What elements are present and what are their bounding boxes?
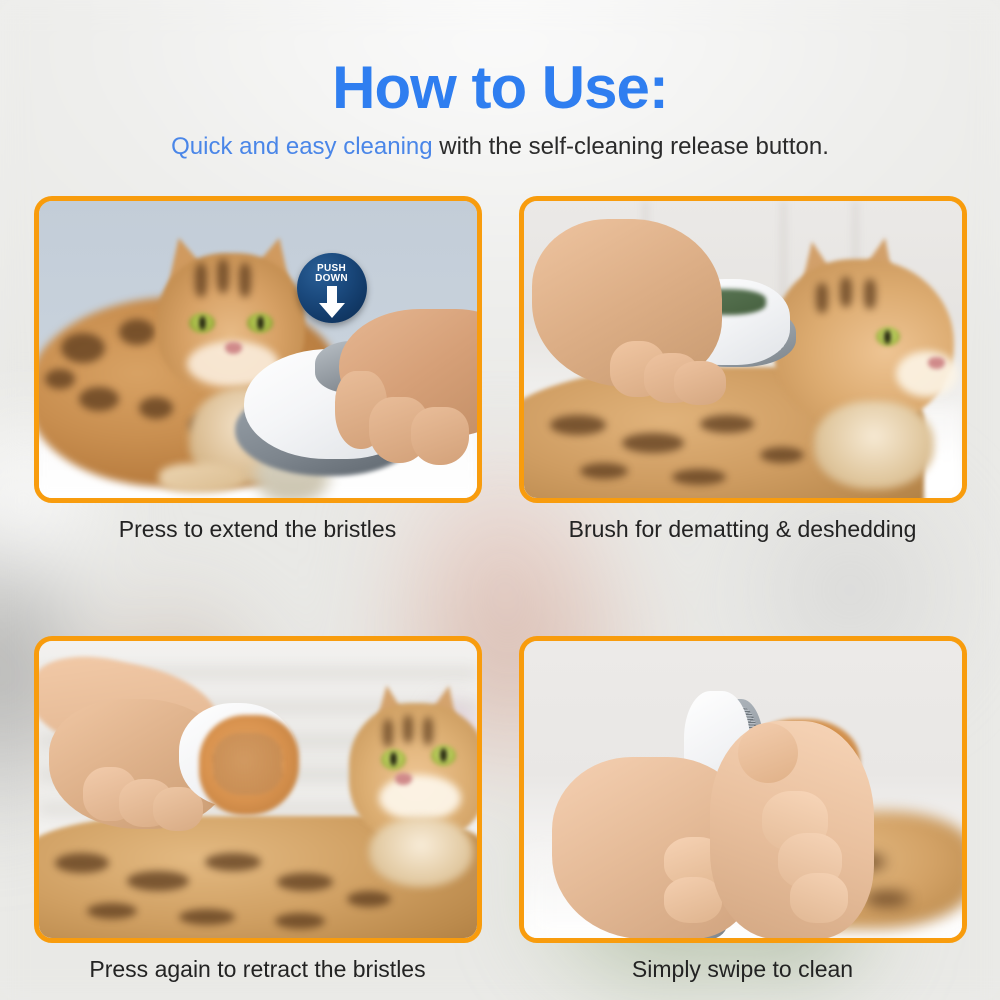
panel-brush-dematting-photo bbox=[524, 201, 962, 498]
down-arrow-icon bbox=[317, 286, 347, 319]
push-down-badge: PUSH DOWN bbox=[297, 253, 367, 323]
infographic-page: How to Use: Quick and easy cleaning with… bbox=[0, 0, 1000, 1000]
panel-swipe-clean: Simply swipe to clean bbox=[519, 636, 967, 984]
header: How to Use: Quick and easy cleaning with… bbox=[0, 0, 1000, 162]
subtitle-rest: with the self-cleaning release button. bbox=[433, 133, 829, 160]
panel-press-extend-frame[interactable]: PUSH DOWN bbox=[34, 196, 482, 503]
panel-swipe-clean-frame[interactable] bbox=[519, 636, 967, 943]
panel-press-retract-frame[interactable] bbox=[34, 636, 482, 943]
push-down-badge-line2: DOWN bbox=[315, 274, 348, 284]
panel-press-retract: Press again to retract the bristles bbox=[34, 636, 482, 984]
panel-press-extend: PUSH DOWN Press to extend the bristles bbox=[34, 196, 482, 544]
panel-press-extend-photo: PUSH DOWN bbox=[39, 201, 477, 498]
panel-brush-dematting: Brush for dematting & deshedding bbox=[519, 196, 967, 544]
steps-grid: PUSH DOWN Press to extend the bristles bbox=[0, 196, 1000, 983]
steps-row-bottom: Press again to retract the bristles bbox=[0, 636, 1000, 984]
page-title: How to Use: bbox=[0, 0, 1000, 119]
steps-row-top: PUSH DOWN Press to extend the bristles bbox=[0, 196, 1000, 544]
subtitle-highlight: Quick and easy cleaning bbox=[171, 133, 433, 160]
panel-swipe-clean-caption: Simply swipe to clean bbox=[519, 956, 967, 984]
panel-brush-dematting-frame[interactable] bbox=[519, 196, 967, 503]
panel-press-retract-caption: Press again to retract the bristles bbox=[34, 956, 482, 984]
panel-press-retract-photo bbox=[39, 641, 477, 938]
panel-brush-dematting-caption: Brush for dematting & deshedding bbox=[519, 516, 967, 544]
panel-swipe-clean-photo bbox=[524, 641, 962, 938]
panel-press-extend-caption: Press to extend the bristles bbox=[34, 516, 482, 544]
page-subtitle: Quick and easy cleaning with the self-cl… bbox=[0, 119, 1000, 162]
